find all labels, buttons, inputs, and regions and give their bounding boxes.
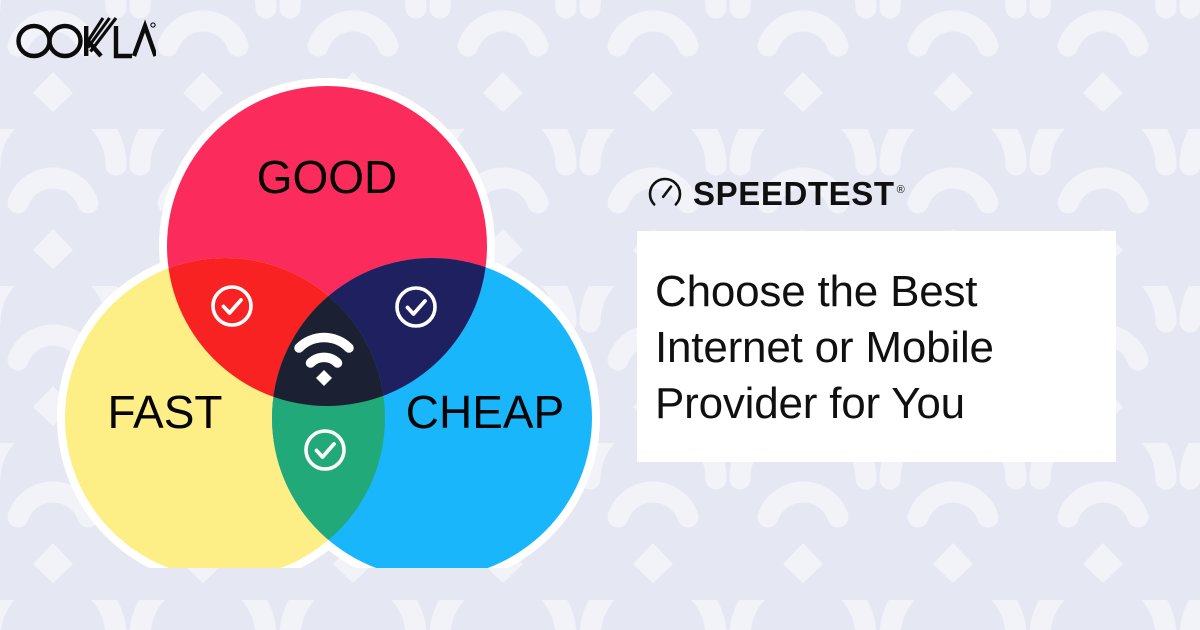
headline-line-1: Choose the Best [655, 264, 1116, 320]
headline-line-3: Provider for You [655, 376, 1116, 432]
speedtest-promo-graphic: GOOD FAST CHEAP [0, 0, 1200, 630]
headline-panel: Choose the Best Internet or Mobile Provi… [637, 231, 1116, 462]
venn-label-cheap: CHEAP [406, 386, 564, 438]
speedtest-wordmark: SPEEDTEST® [693, 177, 905, 210]
speedtest-logo[interactable]: SPEEDTEST® [648, 170, 1127, 216]
right-content-column: SPEEDTEST® Choose the Best Internet or M… [637, 170, 1127, 462]
ookla-logo[interactable] [16, 16, 156, 60]
headline-line-2: Internet or Mobile [655, 320, 1116, 376]
venn-label-good: GOOD [257, 151, 398, 203]
trademark-symbol: ® [897, 184, 906, 196]
ookla-wordmark-glyphs [19, 18, 156, 56]
page-title: Choose the Best Internet or Mobile Provi… [655, 264, 1116, 432]
speedtest-word-text: SPEEDTEST [693, 175, 895, 212]
venn-diagram: GOOD FAST CHEAP [50, 68, 610, 568]
venn-label-fast: FAST [107, 386, 222, 438]
speedometer-gauge-icon [648, 176, 682, 210]
